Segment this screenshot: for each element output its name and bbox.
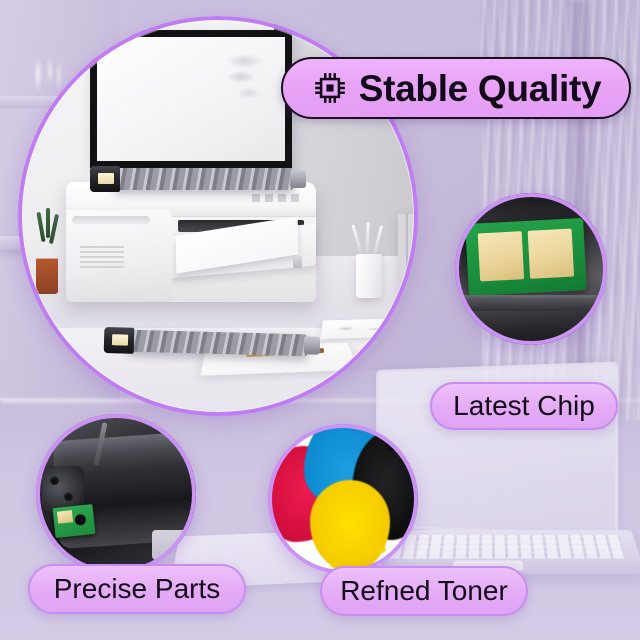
- toner-cartridge-on-printer: [114, 168, 294, 190]
- toner-splatter: [376, 546, 386, 553]
- wall-picture-frame: [90, 30, 292, 168]
- toner-pile-yellow: [310, 480, 390, 572]
- badge-refned-toner[interactable]: Refned Toner: [320, 566, 528, 616]
- pen: [365, 222, 369, 256]
- toner-cartridge-label: [98, 173, 114, 184]
- toner-cartridge-label: [112, 334, 128, 345]
- chip-photo-top-shadow: [455, 193, 607, 219]
- badge-stable-quality[interactable]: Stable Quality: [281, 57, 631, 119]
- wall-picture-art: [215, 51, 275, 107]
- cartridge-chip-pad: [57, 510, 73, 524]
- cartridge-chip-hole: [74, 514, 86, 526]
- scene-book-stack: [398, 214, 418, 310]
- toner-cartridge-on-desk: [128, 330, 309, 357]
- chip-pcb: [465, 218, 587, 296]
- toner-cartridge-nozzle: [304, 336, 320, 354]
- badge-label: Stable Quality: [359, 70, 602, 107]
- printer-vents: [80, 246, 124, 268]
- badge-label: Latest Chip: [453, 392, 595, 420]
- chip-photo-bottom-shadow: [455, 297, 607, 345]
- product-feature-graphic: Stable Quality Latest Chip Precise Parts…: [0, 0, 640, 640]
- desk-document-graphic: [331, 323, 402, 334]
- parts-photo: [36, 414, 196, 574]
- chip-contact-pad-right: [528, 229, 574, 279]
- printer-side-groove: [72, 216, 150, 224]
- badge-label: Precise Parts: [54, 575, 221, 603]
- cartridge-hole: [64, 492, 73, 501]
- cartridge-hole: [50, 476, 59, 485]
- chip-photo-circle: [455, 193, 607, 345]
- printer-power-button: [293, 256, 302, 268]
- chip-photo: [455, 193, 607, 345]
- cartridge-chip-module: [53, 504, 96, 538]
- toner-cartridge-cap: [104, 327, 135, 354]
- badge-label: Refned Toner: [340, 577, 508, 605]
- pen: [351, 224, 363, 258]
- toner-powder-photo-circle: [268, 424, 418, 574]
- scene-plant-pot: [36, 234, 58, 294]
- scene-pen-cup: [356, 254, 382, 298]
- printer-control-panel: [252, 194, 304, 202]
- toner-splatter: [284, 520, 295, 528]
- plant-leaf: [46, 208, 50, 238]
- badge-precise-parts[interactable]: Precise Parts: [28, 564, 246, 614]
- scene-desk-document: [321, 318, 417, 339]
- badge-latest-chip[interactable]: Latest Chip: [430, 382, 618, 430]
- parts-photo-circle: [36, 414, 196, 574]
- toner-cartridge-nozzle: [290, 170, 306, 188]
- chip-contact-pad-left: [478, 231, 524, 281]
- toner-cartridge-cap: [90, 166, 120, 192]
- toner-powder-photo: [268, 424, 418, 574]
- toner-splatter: [296, 432, 306, 440]
- scene-printer: [66, 182, 316, 302]
- parts-background-surface: [152, 530, 196, 560]
- cpu-chip-icon: [311, 69, 349, 107]
- toner-splatter: [386, 442, 395, 451]
